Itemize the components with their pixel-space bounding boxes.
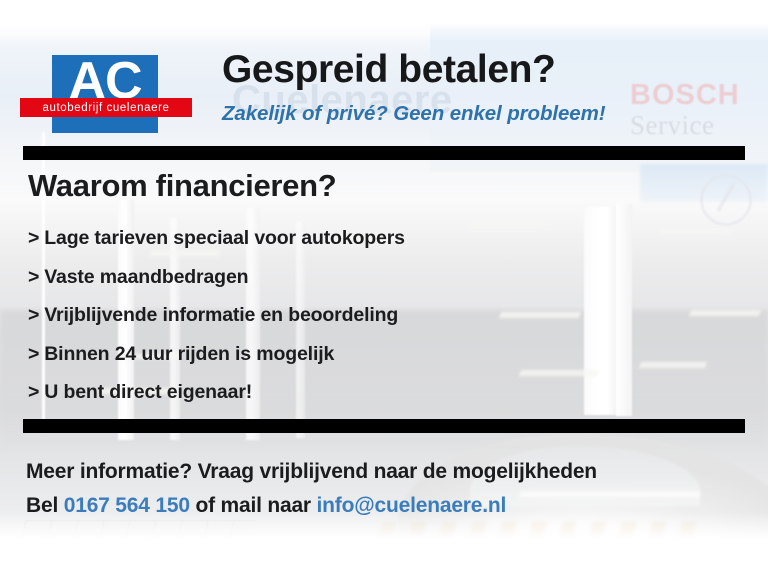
list-item: >Binnen 24 uur rijden is mogelijk (28, 335, 728, 374)
list-item-label: Binnen 24 uur rijden is mogelijk (44, 343, 334, 365)
background-car-highlight (520, 492, 700, 497)
divider-bottom (23, 419, 745, 433)
company-logo[interactable]: AC autobedrijf cuelenaere (20, 52, 200, 134)
bosch-sign-brand-text: BOSCH (630, 80, 768, 110)
subheadline: Zakelijk of privé? Geen enkel probleem! (222, 102, 605, 126)
phone-number-link[interactable]: 0167 564 150 (64, 494, 190, 517)
list-item-label: Vrijblijvende informatie en beoordeling (44, 304, 398, 326)
list-item: >Vrijblijvende informatie en beoordeling (28, 296, 728, 335)
list-item-label: Vaste maandbedragen (44, 266, 248, 288)
background-top-fade (0, 22, 768, 42)
email-link[interactable]: info@cuelenaere.nl (317, 494, 507, 517)
headline: Gespreid betalen? (222, 48, 555, 92)
mail-middle-label: of mail naar (195, 494, 310, 517)
benefits-list: >Lage tarieven speciaal voor autokopers … (28, 219, 728, 412)
bullet-marker-icon: > (28, 381, 44, 403)
section-heading: Waarom financieren? (28, 168, 336, 204)
advertisement-banner: BOSCH Service Cuelenaere (0, 0, 768, 576)
bosch-sign-service-text: Service (630, 110, 768, 140)
list-item: >U bent direct eigenaar! (28, 373, 728, 412)
list-item-label: U bent direct eigenaar! (44, 381, 252, 403)
list-item: >Lage tarieven speciaal voor autokopers (28, 219, 728, 258)
list-item-label: Lage tarieven speciaal voor autokopers (44, 227, 405, 249)
footer-contact-line: Bel 0167 564 150 of mail naar info@cuele… (26, 494, 506, 518)
call-prefix-label: Bel (26, 494, 58, 517)
divider-top (23, 146, 745, 160)
bullet-marker-icon: > (28, 304, 44, 326)
footer-info-line: Meer informatie? Vraag vrijblijvend naar… (26, 460, 597, 484)
logo-ribbon: autobedrijf cuelenaere (20, 98, 192, 117)
bullet-marker-icon: > (28, 343, 44, 365)
bullet-marker-icon: > (28, 227, 44, 249)
list-item: >Vaste maandbedragen (28, 258, 728, 297)
logo-ribbon-text: autobedrijf cuelenaere (42, 102, 169, 114)
bullet-marker-icon: > (28, 266, 44, 288)
